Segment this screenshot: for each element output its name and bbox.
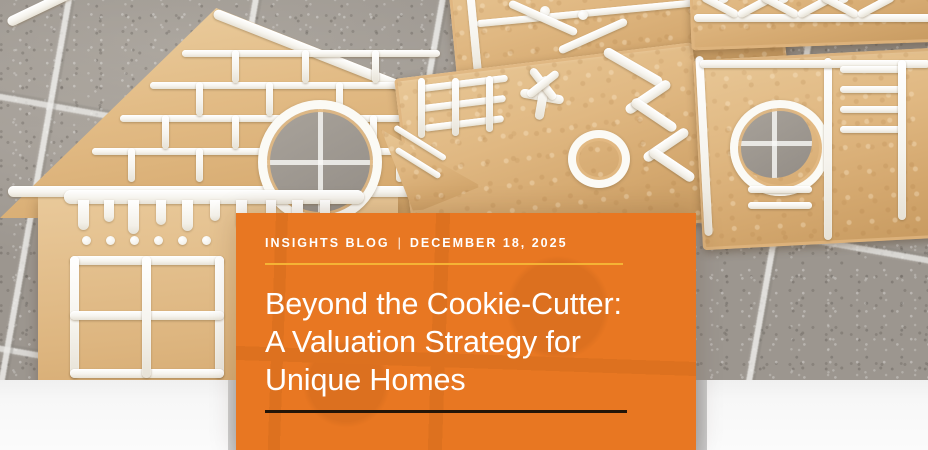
headline-line-2: A Valuation Strategy for <box>265 323 664 361</box>
article-meta: INSIGHTS BLOG | DECEMBER 18, 2025 <box>265 237 664 250</box>
divider-bottom <box>265 410 627 413</box>
meta-separator: | <box>398 237 403 250</box>
article-category[interactable]: INSIGHTS BLOG <box>265 237 390 250</box>
hero-banner: INSIGHTS BLOG | DECEMBER 18, 2025 Beyond… <box>0 0 928 450</box>
divider-top <box>265 263 623 265</box>
headline-line-3: Unique Homes <box>265 361 664 399</box>
article-headline: Beyond the Cookie-Cutter: A Valuation St… <box>265 285 664 399</box>
article-date: DECEMBER 18, 2025 <box>410 237 568 250</box>
article-title-card: INSIGHTS BLOG | DECEMBER 18, 2025 Beyond… <box>236 213 696 450</box>
headline-line-1: Beyond the Cookie-Cutter: <box>265 285 664 323</box>
band-edge-right <box>696 380 707 450</box>
